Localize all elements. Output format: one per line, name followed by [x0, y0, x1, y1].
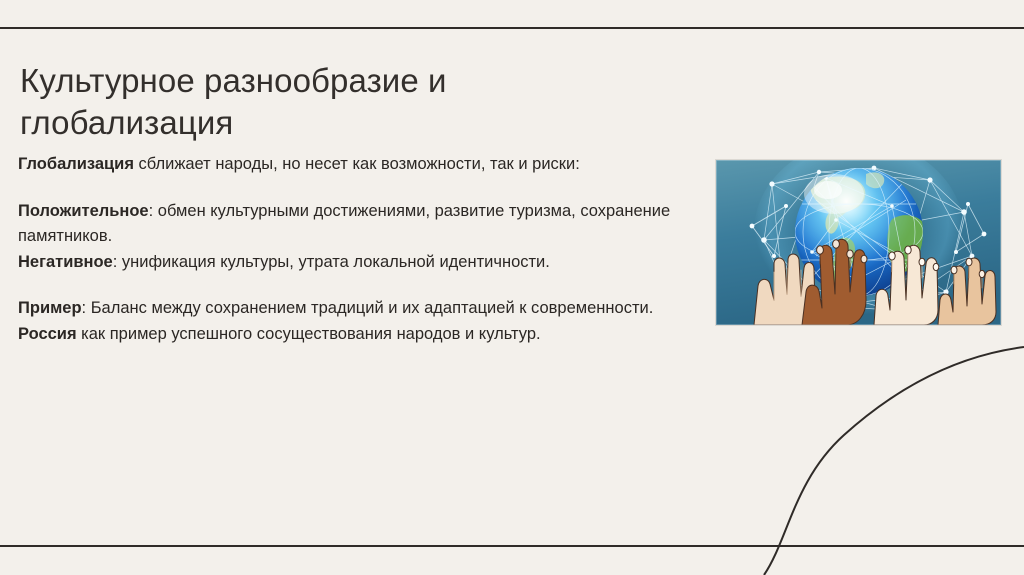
- globe-with-hands-image: [716, 160, 1001, 325]
- globe-illustration-svg: [716, 160, 1001, 325]
- paragraph-example-emphasis: Россия: [18, 325, 77, 343]
- s-curve-decoration: [754, 330, 1024, 575]
- slide-canvas: Культурное разнообразие и глобализация Г…: [0, 0, 1024, 575]
- bottom-divider-rule: [0, 545, 1024, 547]
- top-divider-rule: [0, 27, 1024, 29]
- page-title: Культурное разнообразие и глобализация: [20, 60, 660, 144]
- paragraph-positive: Положительное: обмен культурными достиже…: [18, 199, 690, 250]
- paragraph-example: Пример: Баланс между сохранением традици…: [18, 296, 690, 347]
- paragraph-negative-text: : унификация культуры, утрата локальной …: [113, 253, 550, 271]
- paragraph-negative: Негативное: унификация культуры, утрата …: [18, 250, 690, 276]
- paragraph-intro-text: сближает народы, но несет как возможност…: [134, 155, 580, 173]
- paragraph-example-lead: Пример: [18, 299, 82, 317]
- paragraph-intro: Глобализация сближает народы, но несет к…: [18, 152, 690, 178]
- paragraph-intro-lead: Глобализация: [18, 155, 134, 173]
- body-text-column: Глобализация сближает народы, но несет к…: [18, 152, 690, 347]
- paragraph-positive-lead: Положительное: [18, 202, 149, 220]
- paragraph-example-text-tail: как пример успешного сосуществования нар…: [77, 325, 541, 343]
- paragraph-example-text: : Баланс между сохранением традиций и их…: [82, 299, 654, 317]
- paragraph-negative-lead: Негативное: [18, 253, 113, 271]
